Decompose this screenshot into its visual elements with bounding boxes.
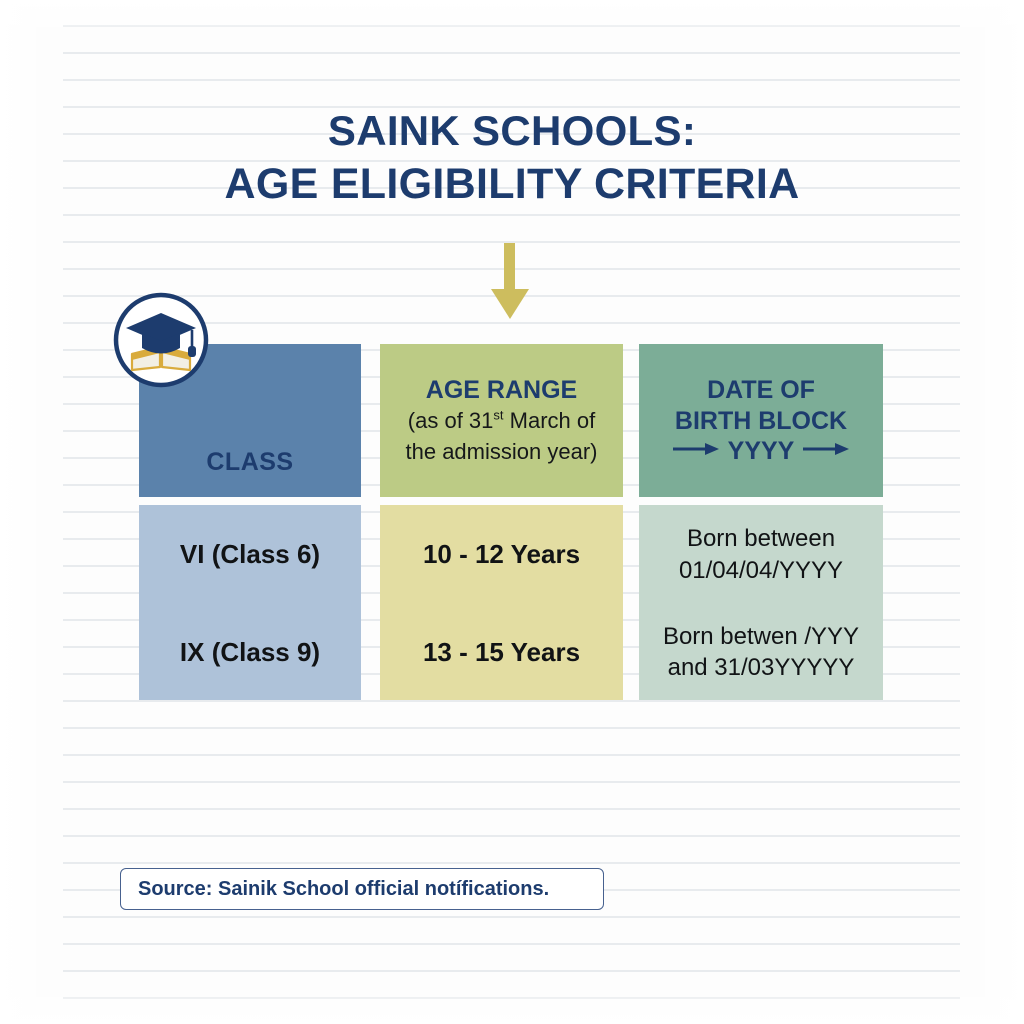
cell-dob-row-2-line1: Born betwen /YYY xyxy=(663,621,859,652)
arrow-right-icon-left xyxy=(673,442,719,461)
table-row: 10 - 12 Years xyxy=(380,505,623,604)
header-yyyy-label: YYYY xyxy=(728,437,795,466)
cell-dob-row-1-line2: 01/04/04/YYYY xyxy=(679,555,843,586)
down-arrow-icon xyxy=(487,243,533,321)
eligibility-table: CLASS AGE RANGE (as of 31st March of the… xyxy=(139,344,883,700)
header-label-age-range: AGE RANGE xyxy=(426,375,577,406)
cell-dob-row-2-line2: and 31/03YYYYY xyxy=(668,652,855,683)
header-sub-age-range-line2: the admission year) xyxy=(406,438,598,467)
header-label-dob-line2: BIRTH BLOCK xyxy=(675,406,847,437)
infographic-page: SAINK SCHOOLS: AGE ELIGIBILITY CRITERIA xyxy=(0,0,1024,1024)
title-line-1: SAINK SCHOOLS: xyxy=(0,104,1024,157)
arrow-right-icon-right xyxy=(803,442,849,461)
cell-class-row-2: IX (Class 9) xyxy=(180,636,320,669)
cell-class-row-1: VI (Class 6) xyxy=(180,538,320,571)
source-note-text: Source: Sainik School official notíficat… xyxy=(138,878,549,901)
table-row: Born betwen /YYY and 31/03YYYYY xyxy=(639,604,883,700)
header-label-class: CLASS xyxy=(206,447,293,478)
cell-dob-row-1-line1: Born between xyxy=(687,523,835,554)
graduation-cap-book-badge-icon xyxy=(112,291,210,389)
header-label-dob-line1: DATE OF xyxy=(707,375,815,406)
table-row: IX (Class 9) xyxy=(139,604,361,700)
table-row: 13 - 15 Years xyxy=(380,604,623,700)
table-row: VI (Class 6) xyxy=(139,505,361,604)
header-sub-prefix: (as of 31 xyxy=(408,408,494,433)
title-line-2: AGE ELIGIBILITY CRITERIA xyxy=(0,157,1024,212)
header-sub-ordinal: st xyxy=(493,408,503,423)
header-sub-suffix: March of xyxy=(504,408,596,433)
source-note: Source: Sainik School official notíficat… xyxy=(120,868,604,910)
cell-age-row-1: 10 - 12 Years xyxy=(423,538,580,571)
table-row: Born between 01/04/04/YYYY xyxy=(639,505,883,604)
table-header-dob-block: DATE OF BIRTH BLOCK YYYY xyxy=(639,344,883,497)
cell-age-row-2: 13 - 15 Years xyxy=(423,636,580,669)
table-header-age-range: AGE RANGE (as of 31st March of the admis… xyxy=(380,344,623,497)
header-yyyy-row: YYYY xyxy=(673,437,850,466)
header-sub-age-range: (as of 31st March of xyxy=(408,407,595,436)
page-title: SAINK SCHOOLS: AGE ELIGIBILITY CRITERIA xyxy=(0,104,1024,212)
